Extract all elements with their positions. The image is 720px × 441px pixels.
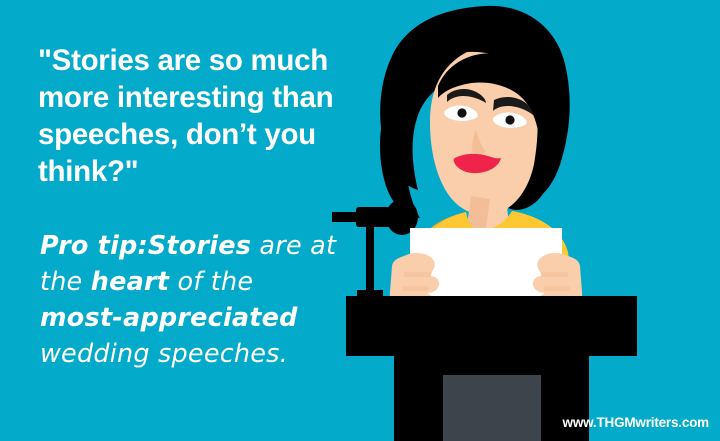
eye-left-pupil <box>457 108 466 117</box>
poster-canvas: "Stories are so much more interesting th… <box>0 0 720 441</box>
watermark-url: www.THGMwriters.com <box>563 415 709 430</box>
speaker-illustration <box>0 0 720 441</box>
microphone-stem <box>366 222 374 296</box>
eye-right-pupil <box>505 115 514 124</box>
podium-panel <box>443 375 541 441</box>
neck-shadow <box>467 196 490 228</box>
microphone-arm-end <box>332 212 360 222</box>
podium-top <box>346 296 637 356</box>
